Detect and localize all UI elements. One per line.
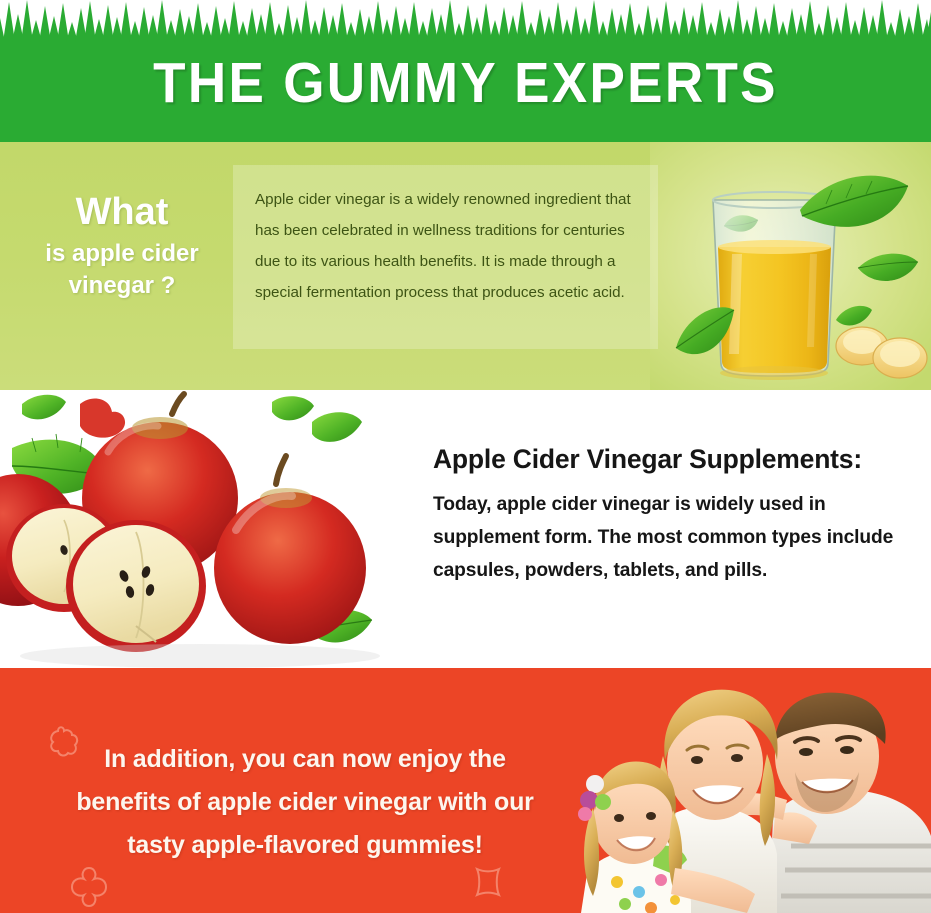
cta-line-2: benefits of apple cider vinegar with our [40, 781, 570, 824]
what-is-acv-text-panel: Apple cider vinegar is a widely renowned… [233, 165, 658, 349]
supplements-body-line-2: supplement form. The most common types i… [433, 521, 919, 554]
section-supplements: Apple Cider Vinegar Supplements: Today, … [0, 390, 931, 668]
cta-line-1: In addition, you can now enjoy the [40, 738, 570, 781]
family-illustration [559, 668, 931, 913]
supplements-title: Apple Cider Vinegar Supplements: [433, 445, 919, 474]
infographic-page: THE GUMMY EXPERTS [0, 0, 931, 913]
cta-text: In addition, you can now enjoy the benef… [40, 738, 570, 867]
glass-of-apple-cider-vinegar-image [650, 142, 931, 390]
section-what-is-acv: What is apple cider vinegar ? Apple cide… [0, 142, 931, 390]
gummy-clover-outline-icon [66, 864, 112, 910]
supplements-body-line-1: Today, apple cider vinegar is widely use… [433, 488, 919, 521]
what-is-acv-heading: What is apple cider vinegar ? [18, 188, 226, 302]
apple-half-front [66, 520, 206, 652]
supplements-copy: Apple Cider Vinegar Supplements: Today, … [433, 445, 919, 587]
what-is-acv-body-text: Apple cider vinegar is a widely renowned… [255, 185, 634, 308]
section-cta: In addition, you can now enjoy the benef… [0, 668, 931, 913]
heading-line-3: vinegar ? [18, 271, 226, 302]
cta-line-3: tasty apple-flavored gummies! [40, 824, 570, 867]
supplements-body-line-3: capsules, powders, tablets, and pills. [433, 554, 919, 587]
header-banner: THE GUMMY EXPERTS [0, 0, 931, 142]
gummy-square-outline-icon [468, 862, 508, 902]
page-title: THE GUMMY EXPERTS [33, 55, 899, 112]
red-apples-image [0, 390, 420, 668]
heading-line-1: What [18, 188, 226, 237]
heading-line-2: is apple cider [18, 239, 226, 270]
happy-family-photo [559, 668, 931, 913]
grass-fringe-icon [0, 0, 931, 42]
red-apples-illustration [0, 390, 420, 668]
vinegar-glass-illustration [650, 142, 931, 390]
